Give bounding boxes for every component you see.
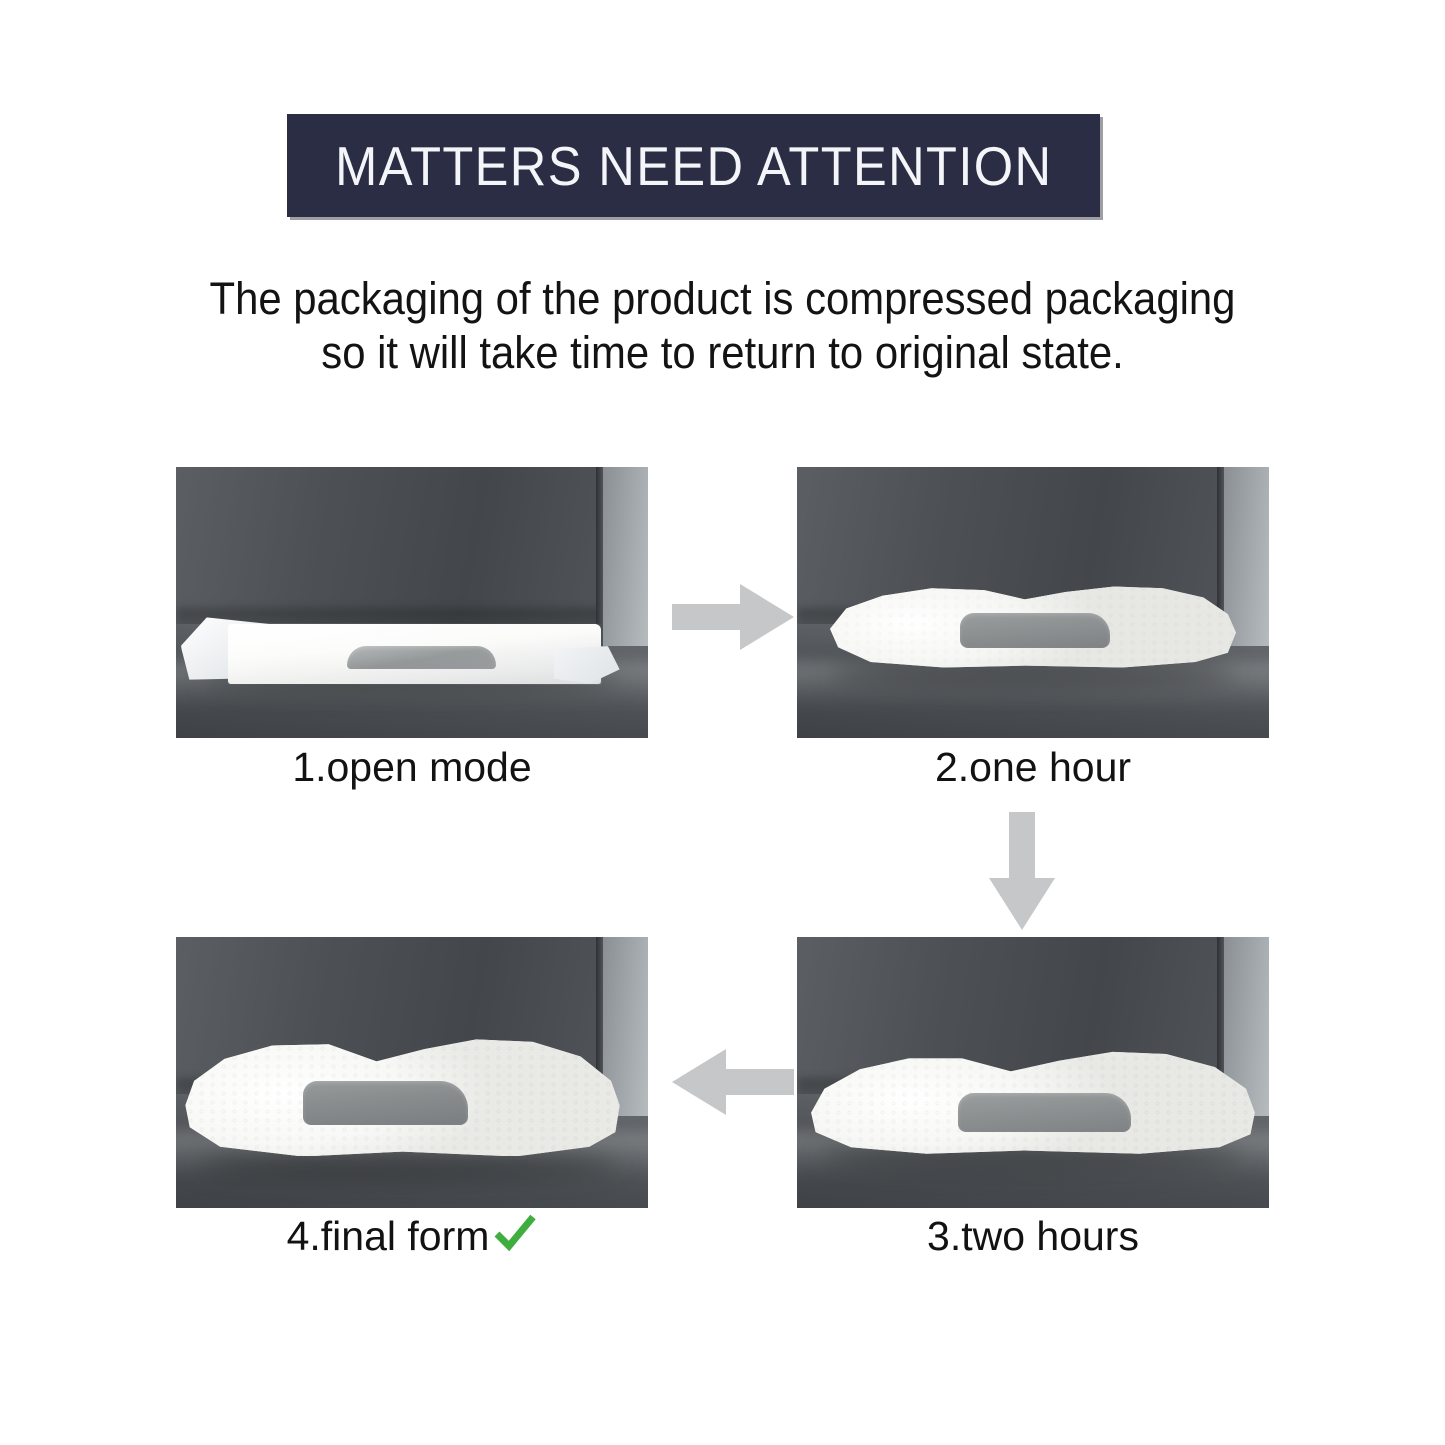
photo-scene	[176, 937, 648, 1208]
pillow-flat-compressed	[228, 624, 601, 684]
step-photo-final-form	[176, 937, 648, 1208]
subtitle-line-2: so it will take time to return to origin…	[190, 326, 1255, 380]
caption-open-mode: 1.open mode	[176, 744, 648, 791]
subtitle-text: The packaging of the product is compress…	[190, 272, 1255, 380]
step-photo-open-mode	[176, 467, 648, 738]
side-wall	[603, 467, 648, 646]
pillow-gray-center-panel	[958, 1093, 1131, 1132]
arrow-right-icon	[672, 578, 794, 656]
step-photo-two-hours	[797, 937, 1269, 1208]
caption-final-form: 4.final form	[176, 1213, 648, 1260]
caption-label: 1.open mode	[292, 744, 531, 791]
photo-scene	[797, 467, 1269, 738]
arrow-down-icon	[983, 812, 1061, 930]
photo-scene	[176, 467, 648, 738]
pillow-mostly-lofted	[811, 1045, 1255, 1153]
plastic-wrap-sheen	[228, 624, 601, 684]
pillow-final-form	[185, 1035, 619, 1157]
page-title: MATTERS NEED ATTENTION	[335, 134, 1052, 198]
step-photo-one-hour	[797, 467, 1269, 738]
arrow-left-icon	[672, 1043, 794, 1121]
pillow-gray-center-panel	[960, 613, 1110, 648]
caption-label: 4.final form	[287, 1213, 490, 1260]
caption-one-hour: 2.one hour	[797, 744, 1269, 791]
caption-label: 2.one hour	[935, 744, 1131, 791]
pillow-partially-expanded	[830, 575, 1236, 667]
side-wall-edge	[596, 467, 604, 646]
pillow-gray-center-panel	[303, 1081, 468, 1125]
caption-two-hours: 3.two hours	[797, 1213, 1269, 1260]
caption-label: 3.two hours	[927, 1213, 1139, 1260]
photo-scene	[797, 937, 1269, 1208]
subtitle-line-1: The packaging of the product is compress…	[190, 272, 1255, 326]
check-icon	[493, 1213, 537, 1260]
header-banner: MATTERS NEED ATTENTION	[287, 114, 1100, 217]
